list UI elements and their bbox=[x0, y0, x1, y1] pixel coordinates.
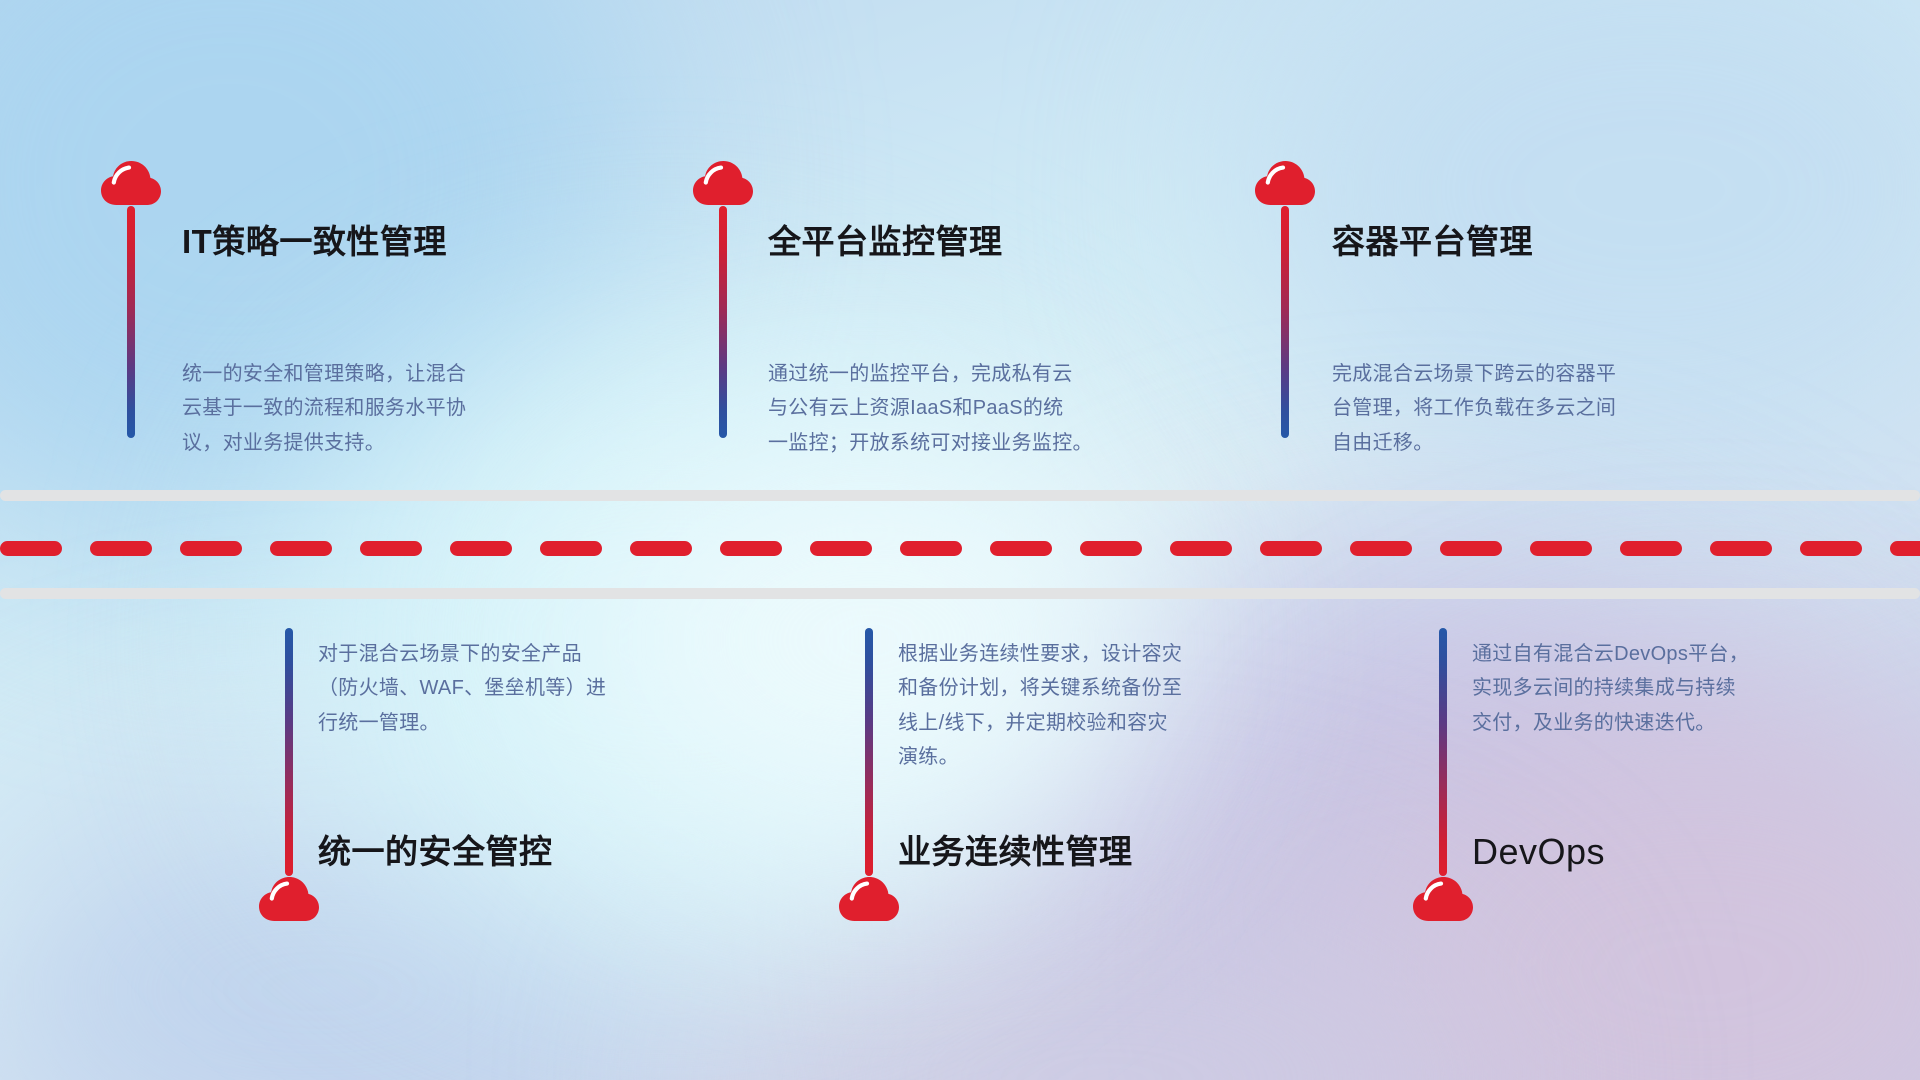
body-full-platform-monitoring: 通过统一的监控平台，完成私有云 与公有云上资源IaaS和PaaS的统 一监控；开… bbox=[768, 357, 1208, 460]
pin-marker-it-policy-consistency bbox=[100, 160, 162, 438]
body-devops: 通过自有混合云DevOps平台， 实现多云间的持续集成与持续 交付，及业务的快速… bbox=[1472, 637, 1892, 740]
cloud-icon bbox=[1412, 876, 1474, 922]
pin-stem bbox=[719, 206, 727, 438]
divider-dash bbox=[0, 541, 62, 556]
heading-devops: DevOps bbox=[1472, 830, 1605, 873]
cloud-icon bbox=[1254, 160, 1316, 206]
divider-dash bbox=[720, 541, 782, 556]
divider-dash bbox=[1170, 541, 1232, 556]
divider-dash bbox=[180, 541, 242, 556]
divider-dash bbox=[810, 541, 872, 556]
divider-dash bbox=[1890, 541, 1920, 556]
pin-stem bbox=[285, 628, 293, 876]
body-it-policy-consistency: 统一的安全和管理策略，让混合 云基于一致的流程和服务水平协 议，对业务提供支持。 bbox=[182, 357, 612, 460]
divider-dash bbox=[900, 541, 962, 556]
pin-marker-full-platform-monitoring bbox=[692, 160, 754, 438]
body-unified-security: 对于混合云场景下的安全产品 （防火墙、WAF、堡垒机等）进 行统一管理。 bbox=[318, 637, 748, 740]
heading-business-continuity: 业务连续性管理 bbox=[898, 832, 1133, 872]
pin-stem bbox=[1281, 206, 1289, 438]
divider-dash bbox=[360, 541, 422, 556]
pin-stem bbox=[865, 628, 873, 876]
cloud-icon bbox=[838, 876, 900, 922]
divider-dash bbox=[1800, 541, 1862, 556]
divider-dash bbox=[270, 541, 332, 556]
body-business-continuity: 根据业务连续性要求，设计容灾 和备份计划，将关键系统备份至 线上/线下，并定期校… bbox=[898, 637, 1328, 775]
divider-dash bbox=[1710, 541, 1772, 556]
background-blob-mauve bbox=[1320, 690, 1920, 1080]
heading-container-platform: 容器平台管理 bbox=[1332, 222, 1533, 262]
divider-dash bbox=[990, 541, 1052, 556]
divider-dash bbox=[1080, 541, 1142, 556]
pin-stem bbox=[127, 206, 135, 438]
divider-dash bbox=[540, 541, 602, 556]
cloud-icon bbox=[258, 876, 320, 922]
pin-marker-devops bbox=[1412, 628, 1474, 922]
divider-dash bbox=[1620, 541, 1682, 556]
pin-marker-container-platform bbox=[1254, 160, 1316, 438]
body-container-platform: 完成混合云场景下跨云的容器平 台管理，将工作负载在多云之间 自由迁移。 bbox=[1332, 357, 1762, 460]
divider-dash bbox=[1530, 541, 1592, 556]
divider-dash bbox=[1350, 541, 1412, 556]
heading-full-platform-monitoring: 全平台监控管理 bbox=[768, 222, 1003, 262]
cloud-icon bbox=[692, 160, 754, 206]
background-blob-sky bbox=[0, 0, 640, 560]
divider-dash bbox=[630, 541, 692, 556]
divider-dash bbox=[450, 541, 512, 556]
heading-unified-security: 统一的安全管控 bbox=[318, 832, 553, 872]
pin-marker-unified-security bbox=[258, 628, 320, 922]
pin-stem bbox=[1439, 628, 1447, 876]
divider-dashed-line bbox=[0, 541, 1920, 556]
background-blob-warm bbox=[700, 880, 1520, 1080]
divider-dash bbox=[1260, 541, 1322, 556]
heading-it-policy-consistency: IT策略一致性管理 bbox=[182, 222, 447, 262]
pin-marker-business-continuity bbox=[838, 628, 900, 922]
divider-rail-top bbox=[0, 490, 1920, 501]
infographic-canvas: IT策略一致性管理 统一的安全和管理策略，让混合 云基于一致的流程和服务水平协 … bbox=[0, 0, 1920, 1080]
cloud-icon bbox=[100, 160, 162, 206]
divider-dash bbox=[1440, 541, 1502, 556]
divider-dash bbox=[90, 541, 152, 556]
divider-rail-bottom bbox=[0, 588, 1920, 599]
background-blob-periwinkle bbox=[0, 760, 700, 1080]
